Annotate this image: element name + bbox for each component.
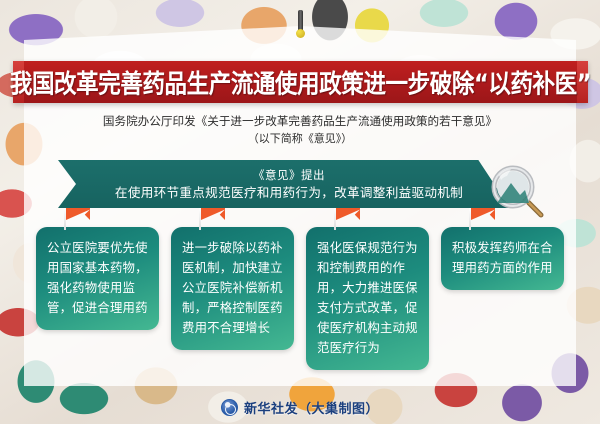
policy-card-1-text: 公立医院要优先使用国家基本药物，强化药物使用监管，促进合理用药 [36,227,159,330]
title-banner: 我国改革完善药品生产流通使用政策进一步破除“以药补医” [13,61,588,103]
red-flag-icon [199,208,229,230]
policy-card-2-text: 进一步破除以药补医机制，加快建立公立医院补偿新机制，严格控制医药费用不合理增长 [171,227,294,350]
infographic-poster: 我国改革完善药品生产流通使用政策进一步破除“以药补医” 国务院办公厅印发《关于进… [0,0,600,424]
pushpin-icon [298,10,303,32]
subtitle-line-1: 国务院办公厅印发《关于进一步改革完善药品生产流通使用政策的若干意见》 [40,112,560,130]
policy-card-3: 强化医保规范行为和控制费用的作用，大力推进医保支付方式改革，促使医疗机构主动规范… [306,227,429,370]
policy-card-1: 公立医院要优先使用国家基本药物，强化药物使用监管，促进合理用药 [36,227,159,330]
credit-text: 新华社发（大巢制图） [244,398,379,417]
red-flag-icon [334,208,364,230]
xinhua-logo-icon [221,399,238,416]
subtitle-block: 国务院办公厅印发《关于进一步改革完善药品生产流通使用政策的若干意见》 （以下简称… [40,112,560,148]
policy-card-4: 积极发挥药师在合理用药方面的作用 [441,227,564,290]
red-flag-icon [469,208,499,230]
footer-credit: 新华社发（大巢制图） [0,398,600,417]
subtitle-line-2: （以下简称《意见》） [40,130,560,148]
ribbon-line-1: 《意见》提出 [253,167,325,183]
policy-card-2: 进一步破除以药补医机制，加快建立公立医院补偿新机制，严格控制医药费用不合理增长 [171,227,294,350]
policy-card-3-text: 强化医保规范行为和控制费用的作用，大力推进医保支付方式改革，促使医疗机构主动规范… [306,227,429,370]
ribbon-line-2: 在使用环节重点规范医疗和用药行为，改革调整利益驱动机制 [115,183,463,202]
policy-card-4-text: 积极发挥药师在合理用药方面的作用 [441,227,564,290]
highlight-ribbon: 《意见》提出 在使用环节重点规范医疗和用药行为，改革调整利益驱动机制 [58,160,510,208]
policy-card-row: 公立医院要优先使用国家基本药物，强化药物使用监管，促进合理用药 进一步破除以药补… [36,227,564,370]
page-title: 我国改革完善药品生产流通使用政策进一步破除“以药补医” [10,64,591,100]
red-flag-icon [64,208,94,230]
